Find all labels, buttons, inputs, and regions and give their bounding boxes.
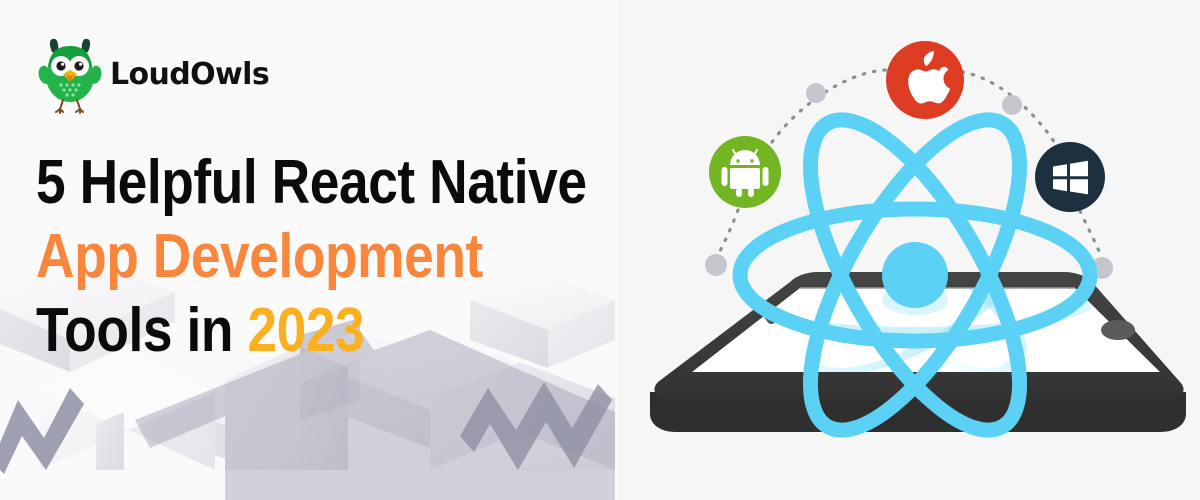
headline-segment-3-2: 2023 [247, 296, 364, 365]
headline-segment-1-1: 5 Helpful React Native [36, 148, 587, 217]
page-title: 5 Helpful React Native App Development T… [36, 146, 620, 368]
brand-wordmark: LoudOwls [110, 60, 269, 90]
connector-dot-right-arc [1002, 95, 1022, 115]
connector-dot-bottom-left [705, 254, 727, 276]
connector-dot-left-arc [806, 83, 826, 103]
windows-badge-circle [1035, 142, 1105, 212]
headline-line-3: Tools in 2023 [36, 294, 587, 368]
react-nucleus [882, 242, 948, 308]
brand-logo[interactable]: LoudOwls [36, 36, 269, 114]
owl-icon [36, 36, 104, 114]
phone-home-button [1101, 320, 1135, 340]
headline-segment-2-1: App Development [36, 222, 483, 291]
platform-badge-windows [1035, 142, 1105, 212]
platform-badge-apple [886, 41, 964, 119]
platform-badge-android [709, 136, 781, 208]
illustration-panel [620, 0, 1200, 500]
left-content-panel: LoudOwls 5 Helpful React Native App Deve… [0, 0, 620, 500]
headline-segment-3-1: Tools in [36, 296, 247, 365]
headline-line-2: App Development [36, 220, 587, 294]
blog-banner: LoudOwls 5 Helpful React Native App Deve… [0, 0, 1200, 500]
headline-line-1: 5 Helpful React Native [36, 146, 587, 220]
